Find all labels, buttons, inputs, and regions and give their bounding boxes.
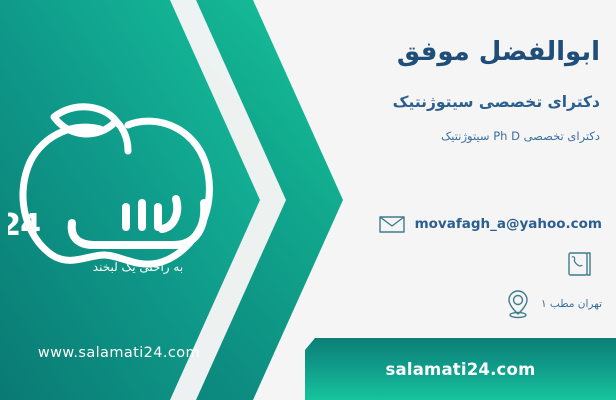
brand-panel-shape — [0, 0, 350, 400]
envelope-icon — [377, 208, 407, 240]
doctor-specialty-fa: دکترای تخصصی سیتوژنتیک — [360, 93, 600, 111]
location-pin-icon — [503, 288, 533, 320]
doctor-specialty-en: دکترای تخصصی Ph D سیتوژنتیک — [360, 129, 600, 143]
contact-row-phone[interactable] — [564, 248, 602, 280]
address-value: تهران مطب ۱ — [541, 298, 602, 310]
contact-row-address[interactable]: تهران مطب ۱ — [503, 288, 602, 320]
footer-website: salamati24.com — [386, 360, 536, 379]
footer-bar: salamati24.com — [305, 338, 616, 400]
phonebook-icon — [564, 248, 594, 280]
brand-panel: 24 به راحتی یک لبخند www.salamati24.com — [0, 0, 350, 400]
doctor-name: ابوالفضل موفق — [360, 38, 600, 68]
business-card: 24 به راحتی یک لبخند www.salamati24.com … — [0, 0, 616, 400]
contact-row-email[interactable]: movafagh_a@yahoo.com — [377, 208, 602, 240]
email-value: movafagh_a@yahoo.com — [415, 216, 602, 232]
